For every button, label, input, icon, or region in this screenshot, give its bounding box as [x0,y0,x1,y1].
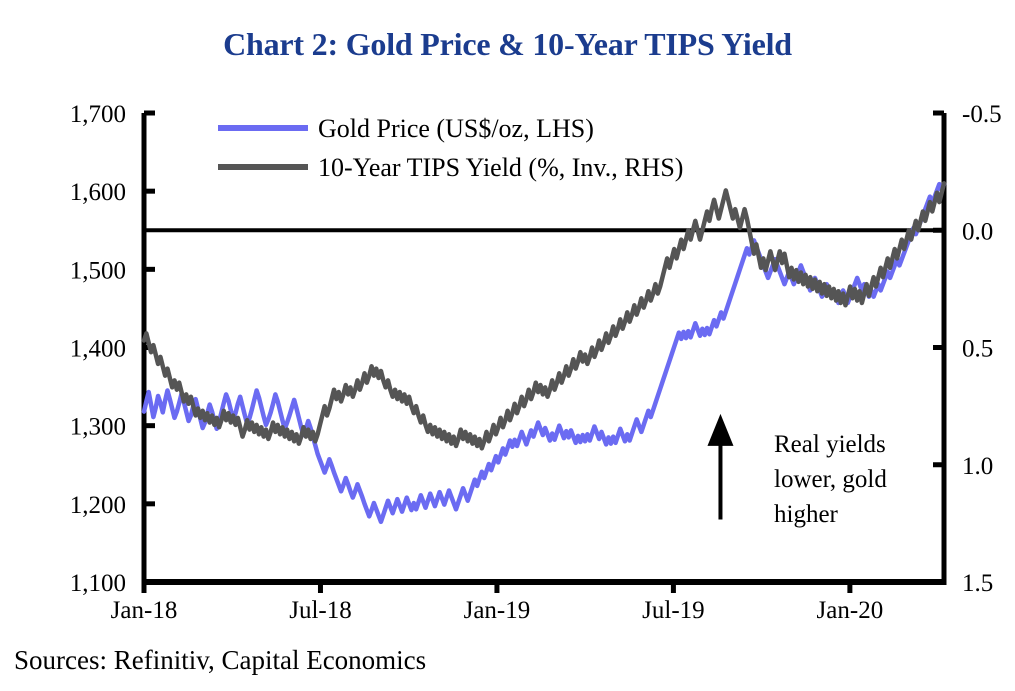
y-axis-left-tick-label: 1,300 [70,414,126,441]
y-axis-left-tick-label: 1,100 [70,570,126,597]
chart-legend: Gold Price (US$/oz, LHS)10-Year TIPS Yie… [218,114,683,182]
x-axis-labels: Jan-18Jul-18Jan-19Jul-19Jan-20 [111,597,884,624]
legend-label: Gold Price (US$/oz, LHS) [318,114,594,143]
y-axis-left-tick-label: 1,500 [70,257,126,284]
y-axis-left-tick-label: 1,700 [70,101,126,128]
x-axis-tick-label: Jan-18 [111,597,178,624]
chart-plot-area: 1,7001,6001,5001,4001,3001,2001,100 -0.5… [0,0,1015,691]
x-axis-tick-label: Jan-20 [817,597,884,624]
x-axis-tick-label: Jan-19 [464,597,531,624]
y-axis-right-labels: -0.50.00.51.01.5 [962,101,1002,597]
up-arrow-icon [707,414,733,520]
x-axis-tick-label: Jul-18 [289,597,352,624]
y-axis-left-labels: 1,7001,6001,5001,4001,3001,2001,100 [70,101,126,597]
source-note: Sources: Refinitiv, Capital Economics [14,645,426,676]
x-axis-tick-label: Jul-19 [642,597,705,624]
y-axis-right-tick-label: 1.5 [962,570,993,597]
y-axis-left-tick-label: 1,200 [70,492,126,519]
y-axis-right-tick-label: 0.0 [962,218,993,245]
annotation-line-1: Real yields [774,431,886,458]
y-axis-right-tick-label: 1.0 [962,453,993,480]
y-axis-left-tick-label: 1,400 [70,336,126,363]
annotation-real-yields: Real yields lower, gold higher [707,414,887,528]
annotation-line-2: lower, gold [774,466,887,493]
y-axis-right-tick-label: -0.5 [962,101,1002,128]
y-axis-right-tick-label: 0.5 [962,336,993,363]
y-axis-left-tick-label: 1,600 [70,179,126,206]
annotation-line-3: higher [774,501,839,528]
chart-container: Chart 2: Gold Price & 10-Year TIPS Yield… [0,0,1015,691]
legend-label: 10-Year TIPS Yield (%, Inv., RHS) [318,153,683,182]
